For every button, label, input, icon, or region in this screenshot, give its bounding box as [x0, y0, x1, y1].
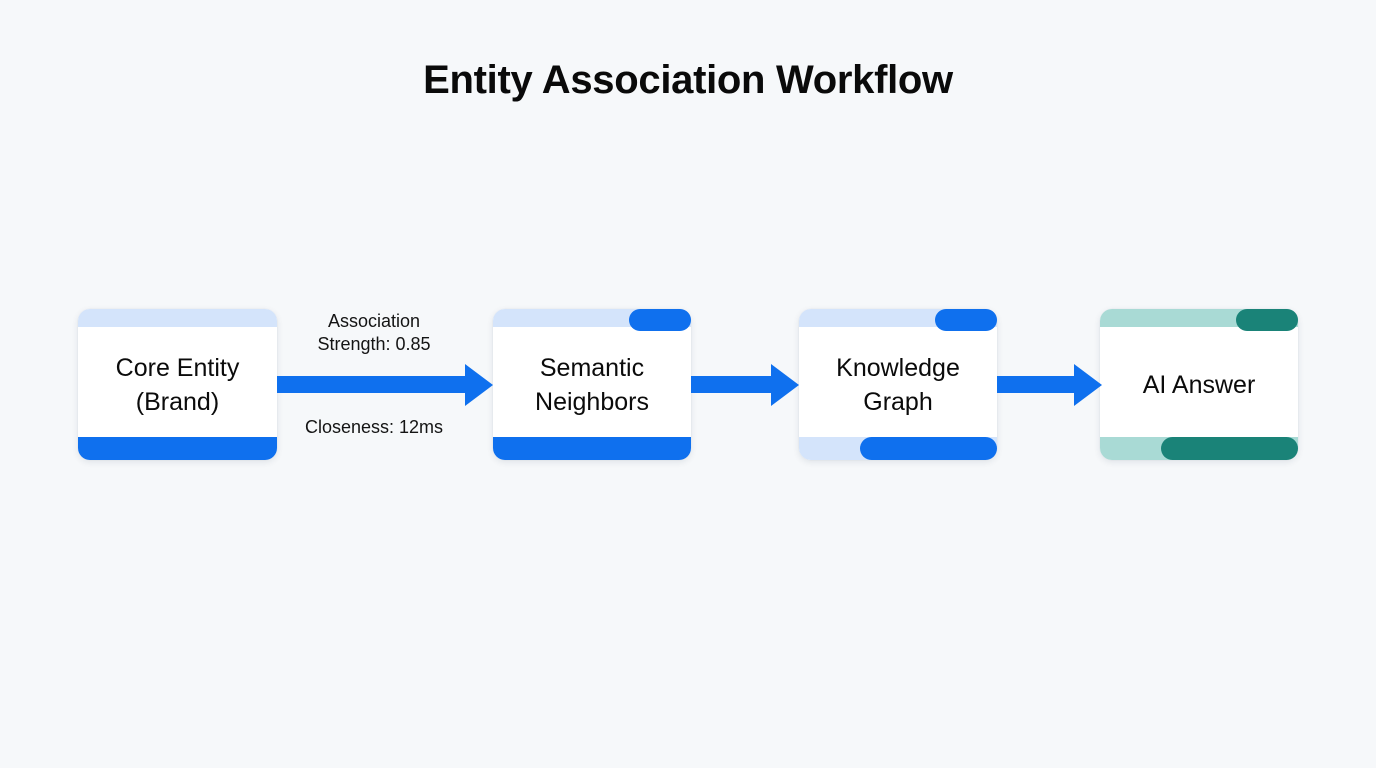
node-core-entity-label: Core Entity (Brand): [78, 309, 277, 460]
edge-1-label-above: Association Strength: 0.85: [283, 310, 465, 356]
arrow-knowledge-graph-to-ai-answer: [997, 364, 1102, 406]
arrow-1-shaft: [277, 376, 467, 393]
arrow-1-head: [465, 364, 493, 406]
arrow-3-shaft: [997, 376, 1076, 393]
diagram-canvas: Entity Association Workflow Core Entity …: [0, 0, 1376, 768]
node-knowledge-graph[interactable]: Knowledge Graph: [799, 309, 997, 460]
edge-1-label-below: Closeness: 12ms: [283, 416, 465, 439]
arrow-2-shaft: [691, 376, 773, 393]
arrow-semantic-neighbors-to-knowledge-graph: [691, 364, 799, 406]
node-knowledge-graph-label: Knowledge Graph: [799, 309, 997, 460]
node-semantic-neighbors-label: Semantic Neighbors: [493, 309, 691, 460]
arrow-2-head: [771, 364, 799, 406]
node-semantic-neighbors[interactable]: Semantic Neighbors: [493, 309, 691, 460]
arrow-3-head: [1074, 364, 1102, 406]
node-core-entity[interactable]: Core Entity (Brand): [78, 309, 277, 460]
arrow-core-entity-to-semantic-neighbors: [277, 364, 493, 406]
page-title: Entity Association Workflow: [0, 58, 1376, 103]
node-ai-answer-label: AI Answer: [1100, 309, 1298, 460]
node-ai-answer[interactable]: AI Answer: [1100, 309, 1298, 460]
